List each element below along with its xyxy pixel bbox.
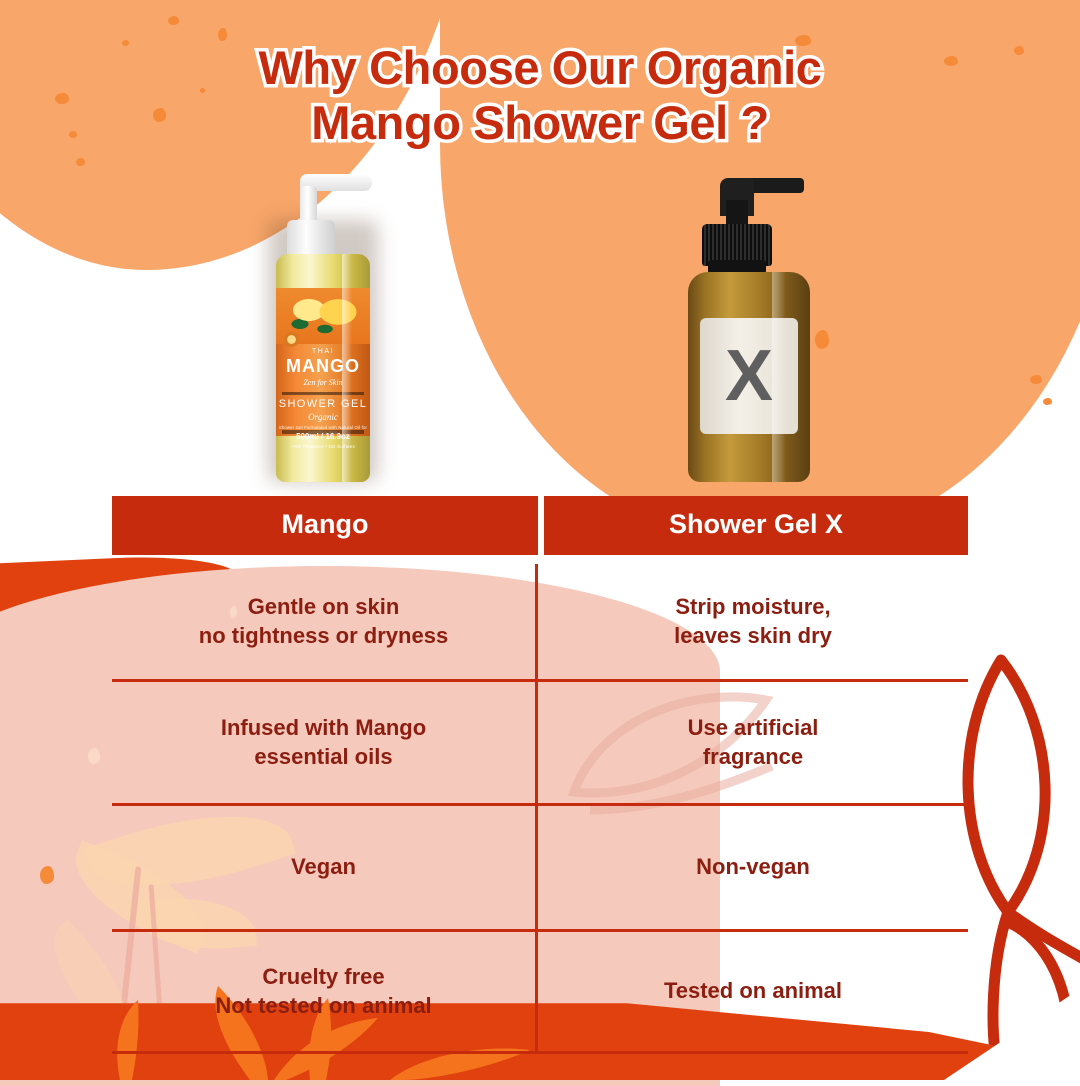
cell-mango-benefit: Cruelty freeNot tested on animal [112, 932, 538, 1051]
title-line-2: Mango Shower Gel ? [0, 95, 1080, 150]
cell-mango-benefit: Gentle on skinno tightness or dryness [112, 564, 538, 679]
table-header-mango: Mango [112, 496, 538, 555]
label-brand-top: THAI [276, 348, 370, 355]
cell-other-drawback: Non-vegan [538, 806, 968, 929]
label-brand: MANGO [276, 356, 370, 377]
label-product-type: SHOWER GEL [276, 398, 370, 410]
title-line-1: Why Choose Our Organic [258, 41, 821, 94]
cell-mango-benefit: Vegan [112, 806, 538, 929]
comparison-table: Mango Shower Gel X Gentle on skinno tigh… [112, 496, 968, 1054]
bottle-body: X [688, 272, 810, 482]
cell-other-drawback: Strip moisture,leaves skin dry [538, 564, 968, 679]
table-row: Gentle on skinno tightness or dryness St… [112, 564, 968, 682]
bottle-label: THAI MANGO Zen for Skin SHOWER GEL Organ… [276, 288, 370, 436]
cell-other-drawback: Tested on animal [538, 932, 968, 1051]
label-claims-row: • NO Parabens • NO Sulfates [276, 444, 370, 449]
bottle-body: THAI MANGO Zen for Skin SHOWER GEL Organ… [276, 254, 370, 482]
competitor-shower-gel-bottle: X [684, 168, 824, 486]
table-row: Infused with Mangoessential oils Use art… [112, 682, 968, 806]
label-volume: 500ml / 16.9oz [276, 432, 370, 441]
pump-collar [287, 220, 335, 258]
page-title: Why Choose Our Organic Mango Shower Gel … [0, 40, 1080, 151]
bottle-highlight [772, 272, 786, 482]
brand-seal-icon [284, 332, 299, 347]
label-claim: Organic [276, 412, 370, 422]
mango-shower-gel-bottle: THAI MANGO Zen for Skin SHOWER GEL Organ… [258, 172, 386, 484]
cell-other-drawback: Use artificialfragrance [538, 682, 968, 803]
table-header-other: Shower Gel X [544, 496, 968, 555]
label-tagline: Zen for Skin [276, 378, 370, 387]
table-row: Cruelty freeNot tested on animal Tested … [112, 932, 968, 1054]
table-row: Vegan Non-vegan [112, 806, 968, 932]
table-body: Gentle on skinno tightness or dryness St… [112, 564, 968, 1054]
bottle-highlight [342, 254, 352, 482]
label-x-mark: X [725, 340, 773, 412]
cell-mango-benefit: Infused with Mangoessential oils [112, 682, 538, 803]
table-header-row: Mango Shower Gel X [112, 496, 968, 555]
